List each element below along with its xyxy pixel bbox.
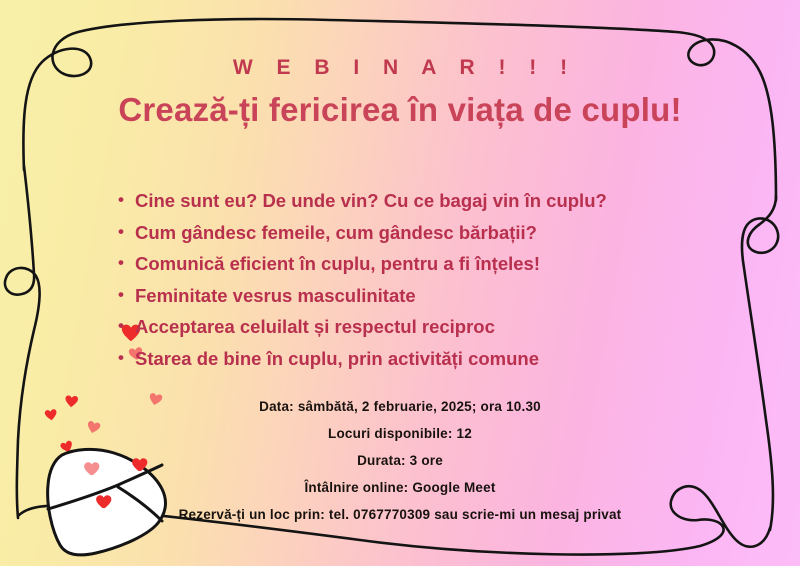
title-line-2: cuplu! [581, 91, 681, 128]
list-item: Comunică eficient în cuplu, pentru a fi … [118, 255, 758, 274]
title-line-1: Crează-ți fericirea în viața de [118, 91, 572, 128]
detail-platform: Întâlnire online: Google Meet [0, 481, 800, 495]
list-item: Feminitate vesrus masculinitate [118, 287, 758, 306]
detail-duration: Durata: 3 ore [0, 454, 800, 468]
list-item: Cum gândesc femeile, cum gândesc bărbați… [118, 224, 758, 243]
list-item: Cine sunt eu? De unde vin? Cu ce bagaj v… [118, 192, 758, 211]
detail-date: Data: sâmbătă, 2 februarie, 2025; ora 10… [0, 400, 800, 414]
webinar-kicker: W E B I N A R ! ! ! [0, 56, 800, 80]
page-title: Crează-ți fericirea în viața de cuplu! [100, 86, 700, 135]
poster-content: W E B I N A R ! ! ! Crează-ți fericirea … [0, 0, 800, 566]
poster-canvas: W E B I N A R ! ! ! Crează-ți fericirea … [0, 0, 800, 566]
detail-booking: Rezervă-ți un loc prin: tel. 0767770309 … [0, 508, 800, 522]
list-item: Acceptarea celuilalt și respectul recipr… [118, 318, 758, 337]
detail-seats: Locuri disponibile: 12 [0, 427, 800, 441]
topics-list: Cine sunt eu? De unde vin? Cu ce bagaj v… [118, 192, 758, 381]
list-item: Starea de bine în cuplu, prin activități… [118, 350, 758, 369]
event-details: Data: sâmbătă, 2 februarie, 2025; ora 10… [0, 400, 800, 535]
